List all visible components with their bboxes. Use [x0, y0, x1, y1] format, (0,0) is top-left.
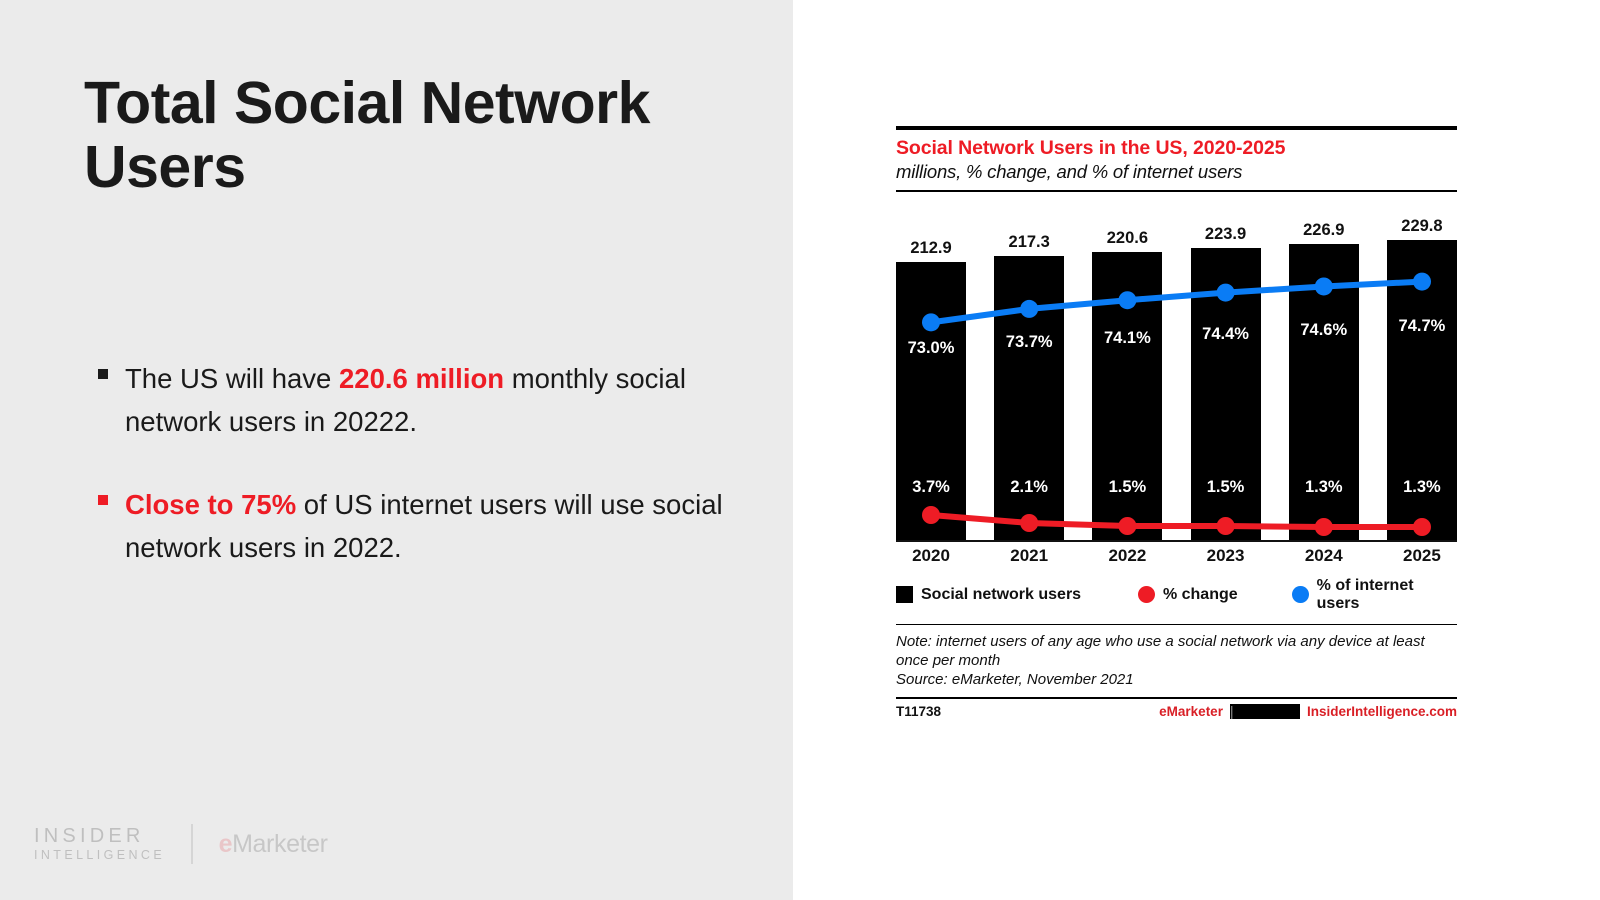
bar-value-label: 229.8	[1387, 217, 1457, 236]
pct-change-label: 1.5%	[1191, 478, 1261, 497]
x-axis-tick-label: 2024	[1289, 546, 1359, 566]
bar-value-label: 212.9	[896, 239, 966, 258]
legend-item[interactable]: % change	[1138, 586, 1292, 604]
bar[interactable]	[896, 262, 966, 540]
bar-value-label: 223.9	[1191, 225, 1261, 244]
bar-column: 229.874.7%1.3%	[1387, 205, 1457, 540]
footer-website[interactable]: InsiderIntelligence.com	[1307, 704, 1457, 719]
logo-line-insider: INSIDER	[34, 825, 165, 849]
bar-column: 212.973.0%3.7%	[896, 205, 966, 540]
legend-label: % change	[1163, 586, 1238, 604]
logo-line-intelligence: INTELLIGENCE	[34, 848, 165, 863]
footer-emarketer: eMarketer	[1159, 704, 1223, 719]
internet-users-pct-label: 74.1%	[1092, 329, 1162, 348]
x-axis-tick-label: 2020	[896, 546, 966, 566]
pct-change-label: 1.3%	[1387, 478, 1457, 497]
pct-change-label: 3.7%	[896, 478, 966, 497]
bar-group: 212.973.0%3.7%217.373.7%2.1%220.674.1%1.…	[896, 205, 1457, 540]
chart-id: T11738	[896, 704, 941, 719]
legend-label: Social network users	[921, 586, 1081, 604]
bullet-list: The US will have 220.6 million monthly s…	[95, 358, 735, 610]
bullet-text: The US will have	[125, 363, 339, 394]
note-text: Note: internet users of any age who use …	[896, 632, 1457, 670]
x-axis-tick-labels: 202020212022202320242025	[896, 546, 1457, 566]
bullet-item: Close to 75% of US internet users will u…	[95, 484, 735, 570]
insider-intelligence-wordmark: INSIDER INTELLIGENCE	[34, 825, 165, 863]
legend-square-icon	[896, 586, 913, 603]
internet-users-pct-label: 74.7%	[1387, 317, 1457, 336]
legend-dot-icon	[1138, 586, 1155, 603]
x-axis-tick-label: 2023	[1191, 546, 1261, 566]
x-axis-tick-label: 2021	[994, 546, 1064, 566]
source-text: Source: eMarketer, November 2021	[896, 670, 1457, 689]
bullet-highlight: 220.6 million	[339, 363, 504, 394]
x-axis-line	[896, 540, 1457, 542]
slide: Total Social Network Users The US will h…	[0, 0, 1600, 900]
pct-change-label: 2.1%	[994, 478, 1064, 497]
chart-note: Note: internet users of any age who use …	[896, 632, 1457, 689]
chart-legend: Social network users% change% of interne…	[896, 577, 1457, 613]
logo-divider	[191, 824, 193, 864]
chart-title: Social Network Users in the US, 2020-202…	[896, 137, 1457, 160]
chart-top-rule	[896, 126, 1457, 130]
legend-bottom-rule	[896, 624, 1457, 626]
internet-users-pct-label: 74.6%	[1289, 321, 1359, 340]
chart-subtitle: millions, % change, and % of internet us…	[896, 161, 1457, 183]
internet-users-pct-label: 74.4%	[1191, 325, 1261, 344]
pct-change-label: 1.5%	[1092, 478, 1162, 497]
bullet-marker-icon	[98, 495, 108, 505]
legend-item[interactable]: % of internet users	[1292, 577, 1457, 613]
x-axis-tick-label: 2025	[1387, 546, 1457, 566]
chart-footer: T11738 eMarketer | InsiderIntelligence.c…	[896, 704, 1457, 719]
emarketer-wordmark: eMarketer	[219, 830, 328, 859]
emarketer-e: e	[219, 830, 233, 858]
legend-label: % of internet users	[1317, 577, 1457, 613]
bar-value-label: 217.3	[994, 233, 1064, 252]
bar-column: 220.674.1%1.5%	[1092, 205, 1162, 540]
bar-column: 226.974.6%1.3%	[1289, 205, 1359, 540]
bar-column: 223.974.4%1.5%	[1191, 205, 1261, 540]
emarketer-rest: Marketer	[232, 830, 327, 858]
brand-logo: INSIDER INTELLIGENCE eMarketer	[34, 824, 328, 864]
chart-header-rule	[896, 190, 1457, 192]
chart-card: Social Network Users in the US, 2020-202…	[896, 126, 1457, 719]
x-axis-tick-label: 2022	[1092, 546, 1162, 566]
left-panel: Total Social Network Users The US will h…	[0, 0, 793, 900]
legend-dot-icon	[1292, 586, 1309, 603]
chart-plot-area: 212.973.0%3.7%217.373.7%2.1%220.674.1%1.…	[896, 205, 1457, 540]
bullet-highlight: Close to 75%	[125, 489, 296, 520]
footer-rule	[896, 697, 1457, 699]
internet-users-pct-label: 73.0%	[896, 339, 966, 358]
bullet-marker-icon	[98, 369, 108, 379]
bar[interactable]	[994, 256, 1064, 539]
bar-value-label: 226.9	[1289, 221, 1359, 240]
bullet-item: The US will have 220.6 million monthly s…	[95, 358, 735, 444]
pct-change-label: 1.3%	[1289, 478, 1359, 497]
legend-item[interactable]: Social network users	[896, 586, 1138, 604]
internet-users-pct-label: 73.7%	[994, 333, 1064, 352]
footer-separator: |	[1230, 704, 1300, 719]
page-title: Total Social Network Users	[84, 72, 724, 199]
footer-branding: eMarketer | InsiderIntelligence.com	[1159, 704, 1457, 719]
bar-value-label: 220.6	[1092, 229, 1162, 248]
bar-column: 217.373.7%2.1%	[994, 205, 1064, 540]
